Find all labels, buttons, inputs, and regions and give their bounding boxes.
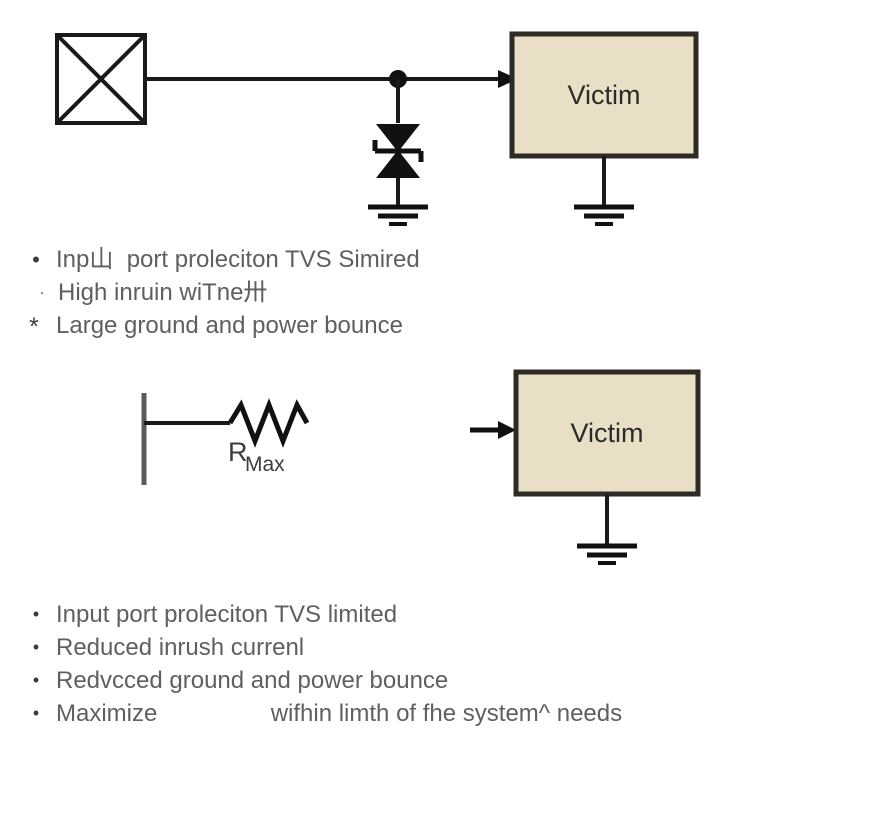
- bullet-marker-icon: •: [24, 243, 48, 276]
- bullet-item: • Redvcced ground and power bounce: [0, 664, 874, 697]
- victim-block-top: Victim: [512, 34, 696, 156]
- series-resistor-schematic: R Max Victim: [0, 355, 874, 585]
- bullet-item: · High inruin wiTne卅: [0, 276, 874, 309]
- resistor-zigzag-icon: [230, 405, 307, 441]
- bullet-text: High inruin wiTne卅: [58, 276, 267, 309]
- victim-block-top-label: Victim: [567, 80, 640, 110]
- bullet-text: Input port proleciton TVS limited: [56, 598, 397, 631]
- bullet-item: • Maximize wifhin limth of fhe system^ n…: [0, 697, 874, 730]
- ground-symbol-victim-top: [574, 207, 634, 224]
- source-crossed-box-symbol: [57, 35, 145, 123]
- bullet-marker-icon: •: [24, 631, 48, 664]
- bullet-item: • Inp山 port proleciton TVS Simired: [0, 243, 874, 276]
- bullet-marker-icon: •: [24, 664, 48, 697]
- victim-block-bottom: Victim: [516, 372, 698, 494]
- bullet-text: Maximize wifhin limth of fhe system^ nee…: [56, 697, 622, 730]
- bullet-text: Large ground and power bounce: [56, 309, 403, 342]
- bullet-item: • Input port proleciton TVS limited: [0, 598, 874, 631]
- signal-arrow-icon: [470, 421, 516, 439]
- unprotected-input-schematic: Victim: [0, 0, 874, 240]
- victim-block-bottom-label: Victim: [570, 418, 643, 448]
- tvs-diode-icon: [375, 124, 421, 178]
- bullet-text: Reduced inrush currenl: [56, 631, 304, 664]
- bullet-list-bottom: • Input port proleciton TVS limited • Re…: [0, 598, 874, 730]
- bullet-text: Inp山 port proleciton TVS Simired: [56, 243, 420, 276]
- slide-canvas: Victim • Inp山 port proleciton TVS Simire…: [0, 0, 874, 762]
- bullet-marker-icon: •: [24, 598, 48, 631]
- bullet-text: Redvcced ground and power bounce: [56, 664, 448, 697]
- bullet-item: • Reduced inrush currenl: [0, 631, 874, 664]
- bullet-item: * Large ground and power bounce: [0, 309, 874, 342]
- ground-symbol-victim-bottom: [577, 546, 637, 563]
- bullet-marker-icon: *: [22, 311, 46, 344]
- bullet-marker-icon: ·: [30, 276, 54, 309]
- bullet-marker-icon: •: [24, 697, 48, 730]
- resistor-label-sub: Max: [245, 453, 285, 476]
- ground-symbol-tvs: [368, 207, 428, 224]
- bullet-list-top: • Inp山 port proleciton TVS Simired · Hig…: [0, 243, 874, 342]
